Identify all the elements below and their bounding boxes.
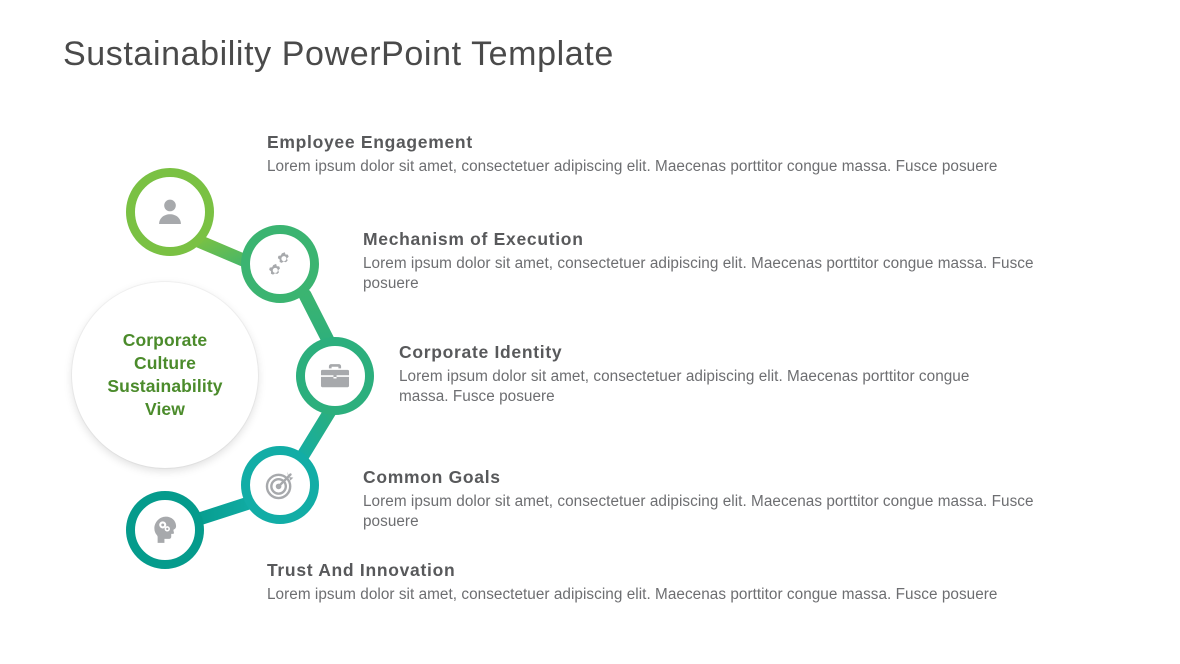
item-block-mechanism-of-execution: Mechanism of Execution Lorem ipsum dolor…	[363, 229, 1038, 295]
hub-line-3: Sustainability	[107, 375, 222, 398]
node-common-goals[interactable]	[241, 446, 319, 524]
node-corporate-identity[interactable]	[296, 337, 374, 415]
item-title: Employee Engagement	[267, 132, 1012, 153]
briefcase-icon	[318, 359, 352, 393]
hub-line-1: Corporate	[107, 329, 222, 352]
hub-line-4: View	[107, 398, 222, 421]
item-title: Common Goals	[363, 467, 1043, 488]
item-description: Lorem ipsum dolor sit amet, consectetuer…	[267, 157, 1012, 177]
node-mechanism-of-execution[interactable]	[241, 225, 319, 303]
hub-line-2: Culture	[107, 352, 222, 375]
item-title: Mechanism of Execution	[363, 229, 1038, 250]
head-gears-icon	[148, 513, 182, 547]
item-title: Trust And Innovation	[267, 560, 1012, 581]
item-description: Lorem ipsum dolor sit amet, consectetuer…	[363, 254, 1038, 295]
node-trust-and-innovation[interactable]	[126, 491, 204, 569]
target-icon	[263, 468, 297, 502]
item-block-common-goals: Common Goals Lorem ipsum dolor sit amet,…	[363, 467, 1043, 533]
gears-icon	[264, 248, 296, 280]
hub-circle[interactable]: Corporate Culture Sustainability View	[72, 282, 258, 468]
node-employee-engagement[interactable]	[126, 168, 214, 256]
hub-label: Corporate Culture Sustainability View	[107, 329, 222, 421]
item-block-trust-and-innovation: Trust And Innovation Lorem ipsum dolor s…	[267, 560, 1012, 605]
item-description: Lorem ipsum dolor sit amet, consectetuer…	[267, 585, 1012, 605]
person-icon	[153, 195, 187, 229]
item-description: Lorem ipsum dolor sit amet, consectetuer…	[363, 492, 1043, 533]
item-title: Corporate Identity	[399, 342, 1009, 363]
item-block-corporate-identity: Corporate Identity Lorem ipsum dolor sit…	[399, 342, 1009, 408]
item-description: Lorem ipsum dolor sit amet, consectetuer…	[399, 367, 1009, 408]
item-block-employee-engagement: Employee Engagement Lorem ipsum dolor si…	[267, 132, 1012, 177]
